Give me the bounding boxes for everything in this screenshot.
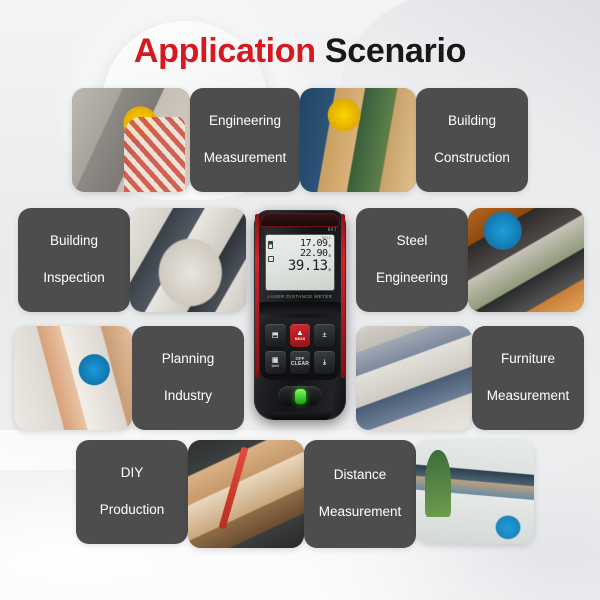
photo-distance-measurement — [416, 440, 534, 544]
tile-text: PlanningIndustry — [150, 350, 227, 406]
photo-image — [72, 88, 190, 192]
reference-mode-icon: ⬒ — [272, 332, 279, 339]
photo-image — [356, 326, 472, 430]
key-reference-mode[interactable]: ⬒ — [265, 324, 286, 347]
label-distance-measurement[interactable]: DistanceMeasurement — [304, 440, 416, 548]
tile-text: BuildingInspection — [31, 232, 117, 288]
device-base — [268, 412, 332, 420]
label-planning-industry[interactable]: PlanningIndustry — [132, 326, 244, 430]
reading-unit: m — [329, 267, 331, 273]
device-screen: MEAS 17.09 m 22.90 m 39.13 m — [265, 234, 335, 291]
screen-status-icons — [268, 241, 274, 262]
key-memory-save[interactable]: ⤓ — [314, 351, 335, 374]
tile-text: DistanceMeasurement — [307, 466, 414, 522]
key-label: Unit — [272, 365, 279, 369]
page-title-rest: Scenario — [316, 32, 466, 70]
reference-point-icon — [268, 256, 274, 262]
bubble-level — [254, 386, 346, 406]
key-unit-area-volume[interactable]: ▣ Unit — [265, 351, 286, 374]
key-plus-minus[interactable]: ± — [314, 324, 335, 347]
plus-minus-icon: ± — [323, 332, 327, 339]
device-midsection — [259, 302, 341, 314]
bubble-level-indicator — [295, 389, 306, 404]
photo-image — [130, 208, 246, 312]
key-label: CLEAR — [291, 362, 309, 367]
reading-row-primary: 39.13 m — [288, 259, 331, 273]
tile-text: DIYProduction — [88, 464, 177, 520]
photo-image — [300, 88, 416, 192]
reading-value: 39.13 — [288, 259, 328, 273]
photo-image — [468, 208, 584, 312]
label-building-construction[interactable]: BuildingConstruction — [416, 88, 528, 192]
tile-text: SteelEngineering — [364, 232, 460, 288]
photo-engineering-measurement — [72, 88, 190, 192]
battery-icon — [268, 241, 273, 249]
device-brand-text: LASER DISTANCE METER — [254, 294, 346, 299]
tile-text: BuildingConstruction — [422, 112, 522, 168]
label-engineering-measurement[interactable]: EngineeringMeasurement — [190, 88, 300, 192]
photo-steel-engineering — [468, 208, 584, 312]
page-title: Application Scenario — [0, 32, 600, 71]
tile-text: FurnitureMeasurement — [475, 350, 582, 406]
save-memory-icon: ⤓ — [323, 359, 326, 366]
label-furniture-measurement[interactable]: FurnitureMeasurement — [472, 326, 584, 430]
photo-building-inspection — [130, 208, 246, 312]
laser-distance-meter: BAT MEAS 17.09 m 22.90 m 39.13 m LASER D… — [254, 210, 346, 420]
key-label: MEAS — [295, 338, 306, 342]
tile-text: EngineeringMeasurement — [192, 112, 299, 168]
photo-image — [14, 326, 132, 430]
label-steel-engineering[interactable]: SteelEngineering — [356, 208, 468, 312]
area-volume-icon: ▣ — [272, 357, 279, 364]
label-diy-production[interactable]: DIYProduction — [76, 440, 188, 544]
battery-indicator: BAT — [328, 228, 337, 233]
photo-diy-production — [188, 440, 304, 548]
label-building-inspection[interactable]: BuildingInspection — [18, 208, 130, 312]
key-off-clear[interactable]: OFF CLEAR — [290, 351, 311, 374]
laser-beam-icon: ▲ — [296, 329, 304, 337]
photo-planning-industry — [14, 326, 132, 430]
page-title-highlight: Application — [134, 32, 316, 70]
photo-image — [416, 440, 534, 544]
key-meas[interactable]: ▲ MEAS — [290, 324, 311, 347]
screen-readings: 17.09 m 22.90 m 39.13 m — [288, 239, 331, 273]
photo-building-construction — [300, 88, 416, 192]
device-laser-aperture — [260, 213, 340, 227]
photo-furniture-measurement — [356, 326, 472, 430]
device-keypad: ⬒ ▲ MEAS ± ▣ Unit OFF CLEAR ⤓ — [260, 318, 340, 380]
photo-image — [188, 440, 304, 548]
bubble-level-housing — [278, 386, 322, 406]
